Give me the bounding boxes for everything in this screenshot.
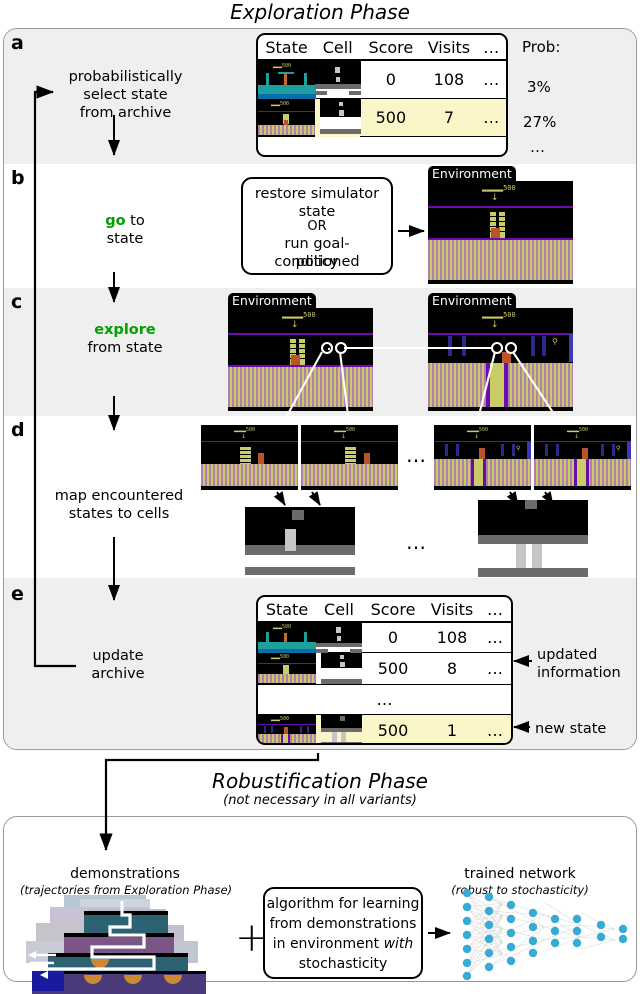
neural-network-image bbox=[455, 885, 635, 982]
cell-more: … bbox=[480, 653, 510, 685]
cell-visits: 108 bbox=[424, 623, 480, 653]
alg-line2: from demonstrations bbox=[265, 914, 421, 934]
cell-more: … bbox=[480, 715, 510, 745]
header-cell: Cell bbox=[315, 38, 360, 57]
prob-header: Prob: bbox=[522, 38, 560, 56]
table-row[interactable]: ▂▂▂500 0 108 … bbox=[258, 623, 511, 653]
header-state: State bbox=[258, 38, 315, 57]
cell-thumbnail-room1-2 bbox=[316, 623, 362, 653]
state-thumbnail-new: ▂▂▂500 bbox=[258, 715, 316, 745]
prob-value-row1: 3% bbox=[527, 78, 551, 96]
d-ellipsis-screens: … bbox=[406, 443, 428, 467]
game-screen-d4: ▂▂▂▂500 ↓ ⚲ bbox=[534, 425, 631, 490]
hud-score-b: ▂▂▂▂▂500 bbox=[482, 184, 516, 192]
alg-line3-part1: in environment bbox=[273, 936, 384, 952]
archive-header-row: State Cell Score Visits … bbox=[258, 35, 506, 61]
cell-representation-left bbox=[245, 507, 355, 572]
prob-value-row2: 27% bbox=[523, 113, 556, 131]
header-score-2: Score bbox=[362, 600, 424, 619]
cell-more: … bbox=[476, 99, 506, 137]
table-row[interactable]: ▂▂▂500 500 8 … bbox=[258, 653, 511, 685]
exploration-phase-title: Exploration Phase bbox=[0, 0, 640, 24]
player-sprite-b bbox=[491, 228, 500, 238]
step-a-line2: select state bbox=[83, 87, 167, 103]
cell-score: 0 bbox=[360, 61, 421, 99]
table-row[interactable]: ▂▂▂500 500 7 … bbox=[258, 99, 506, 137]
cell-score: 500 bbox=[362, 715, 424, 745]
cell-score: 500 bbox=[360, 99, 421, 137]
table-ellipsis-2: … bbox=[377, 690, 393, 709]
cell-visits: 8 bbox=[424, 653, 480, 685]
panel-letter-d: d bbox=[11, 419, 25, 441]
cell-thumbnail-room2 bbox=[315, 99, 360, 137]
cell-visits: 108 bbox=[421, 61, 476, 99]
annotation-updated-line2: information bbox=[537, 665, 621, 681]
panel-letter-b: b bbox=[11, 167, 25, 189]
cell-visits: 1 bbox=[424, 715, 480, 745]
table-ellipsis-row: … bbox=[258, 137, 506, 157]
step-e-label: update archive bbox=[58, 647, 178, 683]
step-c-explore-word: explore bbox=[94, 322, 155, 338]
environment-label-c-left: Environment bbox=[228, 293, 316, 308]
player-sprite-c-left bbox=[291, 355, 300, 365]
header-visits: Visits bbox=[421, 38, 476, 57]
demonstrations-title: demonstrations bbox=[20, 866, 230, 882]
algorithm-box: algorithm for learning from demonstratio… bbox=[263, 887, 423, 979]
floor-b bbox=[428, 239, 573, 280]
alg-line4: stochasticity bbox=[265, 954, 421, 974]
cell-more: … bbox=[476, 61, 506, 99]
alg-line3: in environment with bbox=[265, 934, 421, 954]
header-cell-2: Cell bbox=[316, 600, 362, 619]
annotation-updated-information: updated information bbox=[537, 646, 621, 682]
robustification-phase-subtitle: (not necessary in all variants) bbox=[0, 793, 640, 808]
state-thumbnail-room2: ▂▂▂500 bbox=[258, 99, 315, 137]
annotation-updated-line1: updated bbox=[537, 647, 597, 663]
demonstrations-image bbox=[26, 895, 226, 980]
step-b-go-word: go bbox=[105, 213, 125, 229]
archive-table-initial[interactable]: State Cell Score Visits … ▂▂▂500 bbox=[256, 33, 508, 157]
step-d-line2: states to cells bbox=[69, 506, 170, 522]
header-state-2: State bbox=[258, 600, 316, 619]
cell-score: 0 bbox=[362, 623, 424, 653]
player-sprite-c-right bbox=[502, 352, 511, 363]
environment-label-c-right: Environment bbox=[428, 293, 516, 308]
panel-letter-e: e bbox=[11, 583, 24, 605]
cell-score: 500 bbox=[362, 653, 424, 685]
purple-line-b bbox=[428, 206, 573, 208]
game-screen-c-left: ▂▂▂▂▂500 ↓ bbox=[228, 308, 373, 411]
step-d-line1: map encountered bbox=[55, 488, 184, 504]
hud-score-c-right: ▂▂▂▂▂500 bbox=[482, 311, 516, 319]
game-screen-d2: ▂▂▂▂500 ↓ bbox=[301, 425, 398, 490]
step-e-line2: archive bbox=[91, 666, 144, 682]
go-method-box: restore simulator state OR run goal-cond… bbox=[241, 177, 393, 275]
cell-representation-right bbox=[478, 500, 588, 575]
prob-ellipsis: … bbox=[530, 138, 545, 156]
cell-more: … bbox=[480, 623, 510, 653]
step-b-label: go to state bbox=[45, 212, 205, 248]
panel-letter-a: a bbox=[11, 32, 24, 54]
cell-visits: 7 bbox=[421, 99, 476, 137]
step-c-line2: from state bbox=[87, 340, 162, 356]
or-label: OR bbox=[243, 219, 391, 234]
step-c-label: explore from state bbox=[45, 321, 205, 357]
step-e-line1: update bbox=[92, 648, 143, 664]
trained-network-title: trained network bbox=[410, 866, 630, 882]
state-thumbnail-room1: ▂▂▂500 bbox=[258, 61, 315, 99]
environment-label-b: Environment bbox=[428, 166, 516, 181]
archive-table-updated[interactable]: State Cell Score Visits … ▂▂▂500 bbox=[256, 595, 513, 745]
step-a-label: probabilistically select state from arch… bbox=[38, 68, 213, 122]
cell-thumbnail-new bbox=[316, 715, 362, 745]
table-ellipsis-row-2: … bbox=[258, 685, 511, 715]
panel-letter-c: c bbox=[11, 291, 22, 313]
game-screen-d1: ▂▂▂▂500 ↓ bbox=[201, 425, 298, 490]
hud-score-c-left: ▂▂▂▂▂500 bbox=[282, 311, 316, 319]
game-screen-d3: ▂▂▂▂500 ↓ ⚲ bbox=[434, 425, 531, 490]
game-screen-c-right: ▂▂▂▂▂500 ↓ ⚲ bbox=[428, 308, 573, 411]
cell-thumbnail-room2-2 bbox=[316, 653, 362, 685]
robustification-phase-title: Robustification Phase bbox=[0, 769, 640, 793]
goal-policy-line2: policy bbox=[243, 253, 391, 271]
step-d-label: map encountered states to cells bbox=[24, 487, 214, 523]
restore-sim-line1: restore simulator bbox=[243, 185, 391, 203]
header-score: Score bbox=[360, 38, 421, 57]
step-b-to-word: to bbox=[126, 213, 145, 229]
state-thumbnail-room2-2: ▂▂▂500 bbox=[258, 653, 316, 685]
table-row[interactable]: ▂▂▂500 0 108 … bbox=[258, 61, 506, 99]
table-ellipsis: … bbox=[374, 144, 390, 158]
step-a-line3: from archive bbox=[80, 105, 172, 121]
step-a-line1: probabilistically bbox=[69, 69, 183, 85]
cell-thumbnail-room1 bbox=[315, 61, 360, 99]
archive-header-row-2: State Cell Score Visits … bbox=[258, 597, 511, 623]
d-ellipsis-cells: … bbox=[406, 530, 428, 554]
header-visits-2: Visits bbox=[424, 600, 480, 619]
game-screen-b: ▂▂▂▂▂500 ↓ bbox=[428, 181, 573, 284]
step-b-line2: state bbox=[107, 231, 144, 247]
annotation-new-state: new state bbox=[535, 720, 606, 738]
state-thumbnail-room1-2: ▂▂▂500 bbox=[258, 623, 316, 653]
key-sprite: ⚲ bbox=[552, 338, 558, 346]
alg-line3-with: with bbox=[384, 936, 414, 952]
table-row[interactable]: ▂▂▂500 500 1 … bbox=[258, 715, 511, 745]
header-more-2: … bbox=[480, 600, 510, 619]
header-more: … bbox=[476, 38, 506, 57]
alg-line1: algorithm for learning bbox=[265, 894, 421, 914]
